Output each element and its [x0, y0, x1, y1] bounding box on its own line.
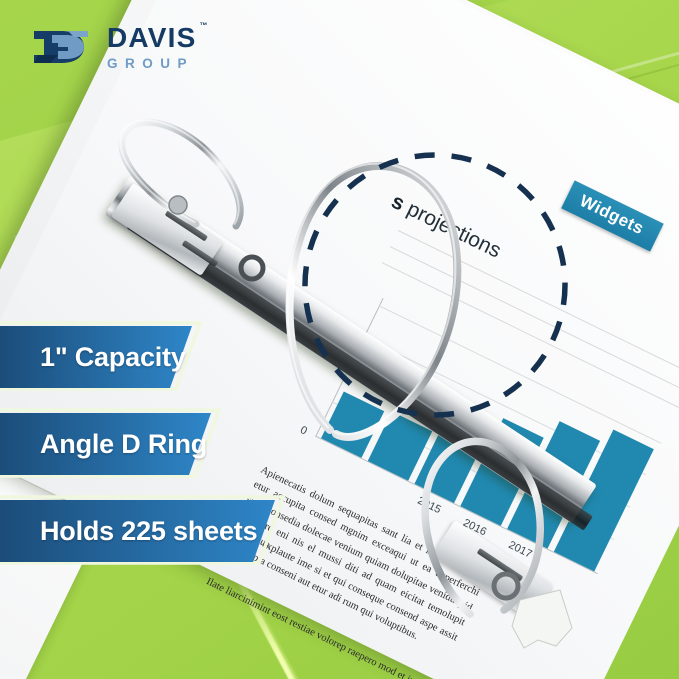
- feature-badge-label: Angle D Ring: [40, 413, 207, 475]
- trademark-symbol: ™: [200, 22, 208, 30]
- brand-name: DAVIS ™: [107, 24, 197, 52]
- feature-badge-label: Holds 225 sheets: [40, 500, 257, 562]
- product-image: Widgets s projections 0 201520162017 Api…: [0, 0, 679, 679]
- feature-badge[interactable]: Angle D Ring: [0, 413, 224, 475]
- brand-wordmark: DAVIS ™ GROUP: [107, 24, 197, 71]
- feature-badge-list: 1" Capacity Angle D Ring: [0, 326, 330, 587]
- feature-badge-label: 1" Capacity: [40, 326, 186, 388]
- dg-monogram-icon: [32, 25, 94, 69]
- brand-name-text: DAVIS: [107, 22, 197, 53]
- feature-badge[interactable]: 1" Capacity: [0, 326, 205, 388]
- feature-badge[interactable]: Holds 225 sheets: [0, 500, 288, 562]
- brand-logo: DAVIS ™ GROUP: [32, 24, 197, 71]
- brand-subtitle: GROUP: [107, 57, 197, 71]
